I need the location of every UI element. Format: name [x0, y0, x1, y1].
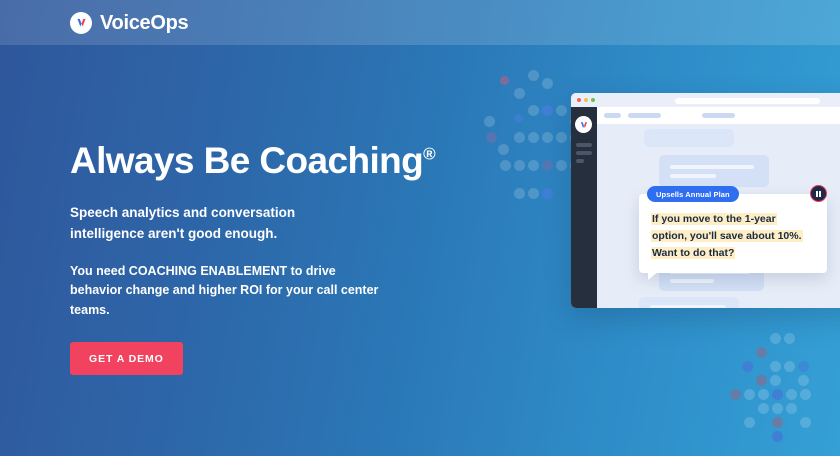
decorative-dot	[772, 389, 783, 400]
landing-page: VoiceOps Always Be Coaching® Speech anal…	[0, 0, 840, 472]
decorative-dot	[744, 389, 755, 400]
decorative-dot	[528, 70, 539, 81]
decorative-dot	[742, 361, 753, 372]
app-sidebar	[571, 107, 597, 308]
product-screenshot-mockup: Upsells Annual Plan If you move to the 1…	[571, 93, 840, 308]
decorative-dot	[514, 160, 525, 171]
decorative-dot	[784, 333, 795, 344]
nav-item-placeholder	[628, 113, 661, 118]
decorative-dot	[514, 114, 523, 123]
address-bar	[675, 98, 820, 104]
page-footer-band	[0, 456, 840, 472]
decorative-dot	[542, 188, 553, 199]
decorative-dot	[798, 361, 809, 372]
decorative-dot	[786, 403, 797, 414]
get-a-demo-button[interactable]: GET A DEMO	[70, 342, 183, 375]
status-badge: Upsells Annual Plan	[647, 186, 739, 202]
trademark-symbol: ®	[423, 145, 436, 164]
decorative-dot	[542, 160, 553, 171]
brand-logo[interactable]: VoiceOps	[70, 0, 188, 45]
decorative-dot	[556, 105, 567, 116]
decorative-dot	[730, 389, 741, 400]
decorative-dot	[542, 105, 553, 116]
chat-bubble	[644, 129, 734, 147]
decorative-dot	[772, 403, 783, 414]
maximize-icon	[591, 98, 595, 102]
decorative-dot	[542, 132, 553, 143]
close-icon	[577, 98, 581, 102]
decorative-dot	[756, 347, 767, 358]
bubble-text-line	[650, 305, 726, 308]
site-header: VoiceOps	[0, 0, 840, 45]
decorative-dot	[772, 431, 783, 442]
decorative-dot	[514, 88, 525, 99]
callout-line-2: option, you'll save about 10%.	[652, 230, 802, 242]
brand-name: VoiceOps	[100, 13, 188, 33]
decorative-dot	[486, 132, 497, 143]
decorative-dot	[770, 375, 781, 386]
decorative-dot	[556, 132, 567, 143]
hero-lede: Speech analytics and conversation intell…	[70, 203, 370, 244]
callout-quote: If you move to the 1-year option, you'll…	[652, 211, 814, 262]
callout-line-1: If you move to the 1-year	[652, 213, 776, 225]
decorative-dot	[770, 361, 781, 372]
decorative-dot	[758, 403, 769, 414]
bubble-text-line	[670, 165, 754, 169]
decorative-dot	[514, 188, 525, 199]
nav-item-placeholder	[604, 113, 621, 118]
minimize-icon	[584, 98, 588, 102]
voiceops-v-logo-icon	[575, 116, 592, 133]
decorative-dot	[484, 116, 495, 127]
pause-icon[interactable]	[810, 185, 827, 202]
decorative-dot	[744, 417, 755, 428]
decorative-dot	[556, 160, 567, 171]
page-title: Always Be Coaching®	[70, 140, 470, 181]
decorative-dot	[528, 188, 539, 199]
hero-section: VoiceOps Always Be Coaching® Speech anal…	[0, 0, 840, 456]
chat-bubble	[659, 155, 769, 187]
decorative-dot	[498, 144, 509, 155]
app-content: Upsells Annual Plan If you move to the 1…	[597, 107, 840, 308]
voiceops-v-logo-icon	[70, 12, 92, 34]
callout-line-3: Want to do that?	[652, 247, 734, 259]
decorative-dot	[800, 417, 811, 428]
decorative-dot	[500, 160, 511, 171]
browser-chrome	[571, 93, 840, 107]
hero-subcopy: You need COACHING ENABLEMENT to drive be…	[70, 262, 382, 320]
decorative-dot	[514, 132, 525, 143]
bubble-text-line	[670, 174, 716, 178]
decorative-dot	[758, 389, 769, 400]
decorative-dot	[500, 76, 509, 85]
decorative-dot	[528, 160, 539, 171]
chat-bubble	[639, 297, 739, 308]
coaching-callout: Upsells Annual Plan If you move to the 1…	[639, 194, 827, 273]
sidebar-item-placeholder	[576, 151, 592, 155]
bubble-text-line	[670, 279, 714, 283]
headline-text: Always Be Coaching	[70, 140, 423, 181]
sidebar-item-placeholder	[576, 159, 584, 163]
decorative-dot	[786, 389, 797, 400]
decorative-dot	[770, 333, 781, 344]
decorative-dot	[542, 78, 553, 89]
decorative-dot	[798, 375, 809, 386]
decorative-dot	[784, 361, 795, 372]
decorative-dot	[528, 132, 539, 143]
hero-copy: Always Be Coaching® Speech analytics and…	[70, 140, 470, 375]
decorative-dot	[772, 417, 783, 428]
decorative-dot	[528, 105, 539, 116]
app-topnav	[597, 107, 840, 124]
nav-item-placeholder	[702, 113, 735, 118]
decorative-dot	[800, 389, 811, 400]
decorative-dot	[756, 375, 767, 386]
sidebar-item-placeholder	[576, 143, 592, 147]
